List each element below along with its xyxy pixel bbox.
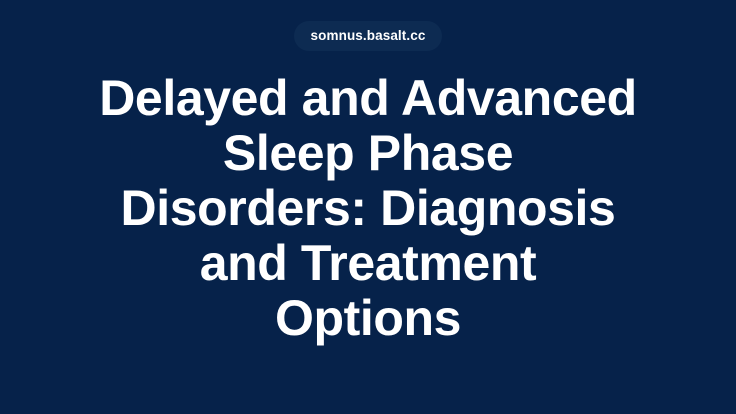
page-title: Delayed and Advanced Sleep Phase Disorde… (0, 71, 736, 346)
title-line-3: Disorders: Diagnosis (18, 181, 718, 236)
title-line-1: Delayed and Advanced (18, 71, 718, 126)
domain-badge[interactable]: somnus.basalt.cc (294, 21, 443, 51)
badge-row: somnus.basalt.cc (0, 21, 736, 51)
title-line-5: Options (18, 291, 718, 346)
title-card: somnus.basalt.cc Delayed and Advanced Sl… (0, 0, 736, 414)
title-line-4: and Treatment (18, 236, 718, 291)
domain-badge-label: somnus.basalt.cc (311, 29, 426, 43)
title-line-2: Sleep Phase (18, 126, 718, 181)
